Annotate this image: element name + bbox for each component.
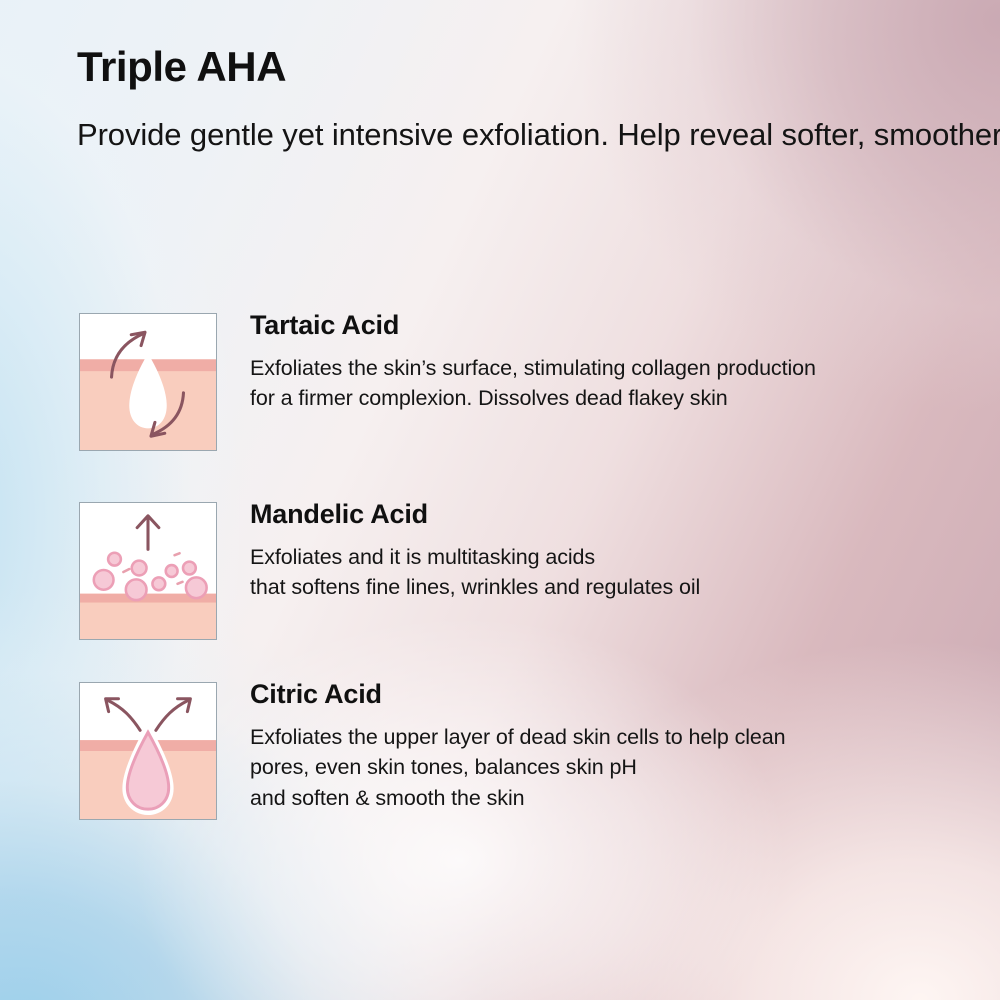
- ingredient-text: Mandelic Acid Exfoliates and it is multi…: [250, 500, 970, 603]
- ingredient-description: Exfoliates and it is multitasking acids …: [250, 542, 970, 603]
- page-title: Triple AHA: [77, 44, 286, 89]
- ingredient-title: Tartaic Acid: [250, 311, 970, 341]
- ingredient-text: Tartaic Acid Exfoliates the skin’s surfa…: [250, 311, 970, 414]
- ingredient-description: Exfoliates the skin’s surface, stimulati…: [250, 353, 970, 414]
- ingredient-title: Mandelic Acid: [250, 500, 970, 530]
- infographic-page: Triple AHA Provide gentle yet intensive …: [0, 0, 1000, 1000]
- ingredient-description: Exfoliates the upper layer of dead skin …: [250, 722, 970, 814]
- ingredient-title: Citric Acid: [250, 680, 970, 710]
- ingredient-text: Citric Acid Exfoliates the upper layer o…: [250, 680, 970, 813]
- skin-layer-droplet-circulating-arrows-icon: [79, 313, 217, 451]
- content-area: Triple AHA Provide gentle yet intensive …: [0, 0, 1000, 1000]
- page-subtitle: Provide gentle yet intensive exfoliation…: [77, 113, 1000, 157]
- skin-layer-rising-cells-arrow-icon: [79, 502, 217, 640]
- skin-pore-droplet-outward-arrows-icon: [79, 682, 217, 820]
